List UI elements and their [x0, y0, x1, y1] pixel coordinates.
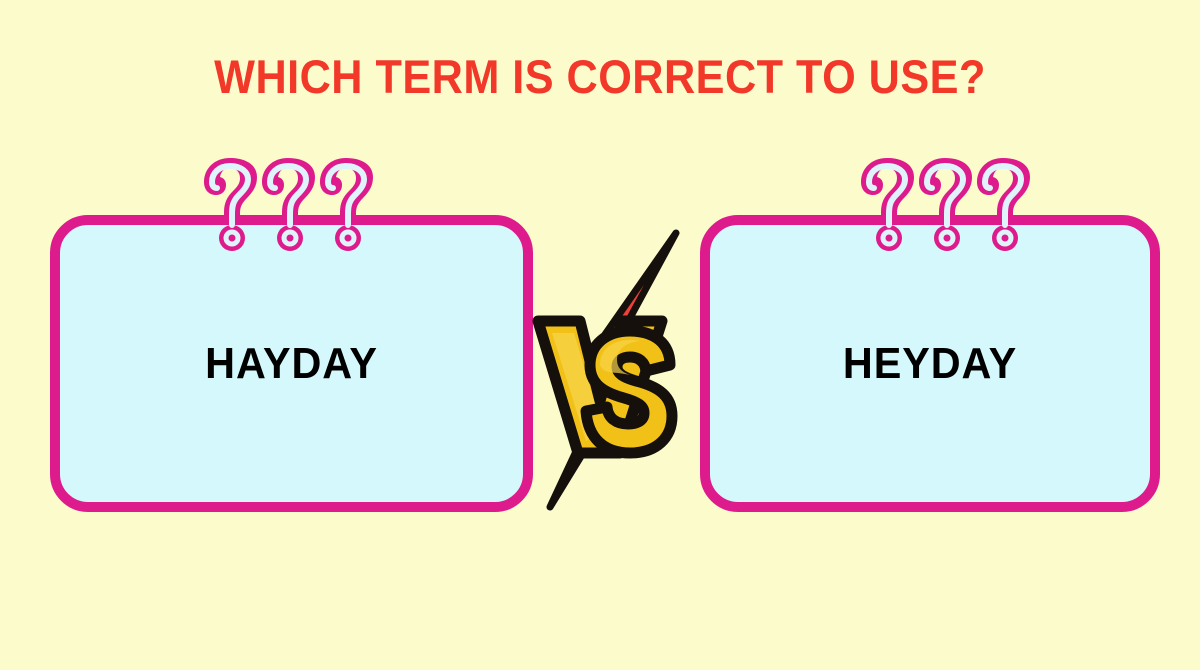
option-label-right: HEYDAY — [723, 225, 1137, 502]
vs-text — [538, 321, 672, 453]
versus-badge — [528, 225, 693, 515]
option-card-right[interactable]: HEYDAY — [700, 215, 1160, 512]
option-label-left: HAYDAY — [74, 225, 509, 502]
comparison-infographic: WHICH TERM IS CORRECT TO USE? — [0, 0, 1200, 670]
option-card-left[interactable]: HAYDAY — [50, 215, 533, 512]
page-title: WHICH TERM IS CORRECT TO USE? — [48, 52, 1152, 101]
